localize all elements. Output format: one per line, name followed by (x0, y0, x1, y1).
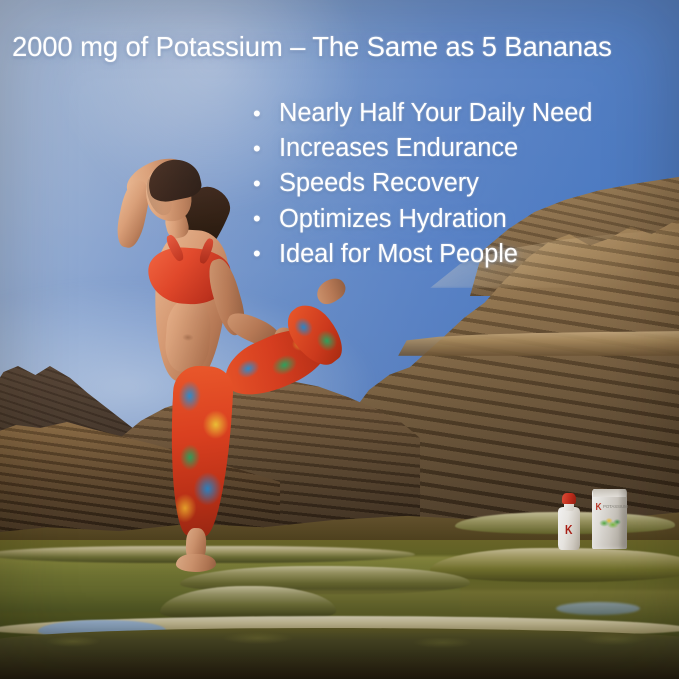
bottle-logo: K (565, 523, 573, 536)
sport-water-bottle: K (556, 493, 582, 550)
list-item: Speeds Recovery (252, 166, 592, 201)
bottle-cap (562, 493, 576, 504)
list-item: Increases Endurance (252, 131, 592, 166)
model-raised-foot (312, 273, 349, 308)
leggings-standing-leg (166, 365, 235, 538)
pouch-shading (618, 489, 627, 549)
pouch-logo: K (596, 503, 602, 513)
supplement-pouch: K POTASSIUM (592, 489, 627, 549)
headline: 2000 mg of Potassium – The Same as 5 Ban… (12, 31, 612, 63)
list-item: Optimizes Hydration (252, 202, 592, 237)
moss-ridge-right (430, 548, 679, 582)
model-foot (176, 554, 216, 572)
advertisement-image: K K POTASSIUM 2000 mg of Potassium – The… (0, 0, 679, 679)
benefits-list: Nearly Half Your Daily Need Increases En… (252, 96, 592, 272)
sky-reflection-puddle-right (556, 602, 640, 615)
foreground-moss-bank (0, 628, 679, 679)
list-item: Ideal for Most People (252, 237, 592, 272)
list-item: Nearly Half Your Daily Need (252, 96, 592, 131)
